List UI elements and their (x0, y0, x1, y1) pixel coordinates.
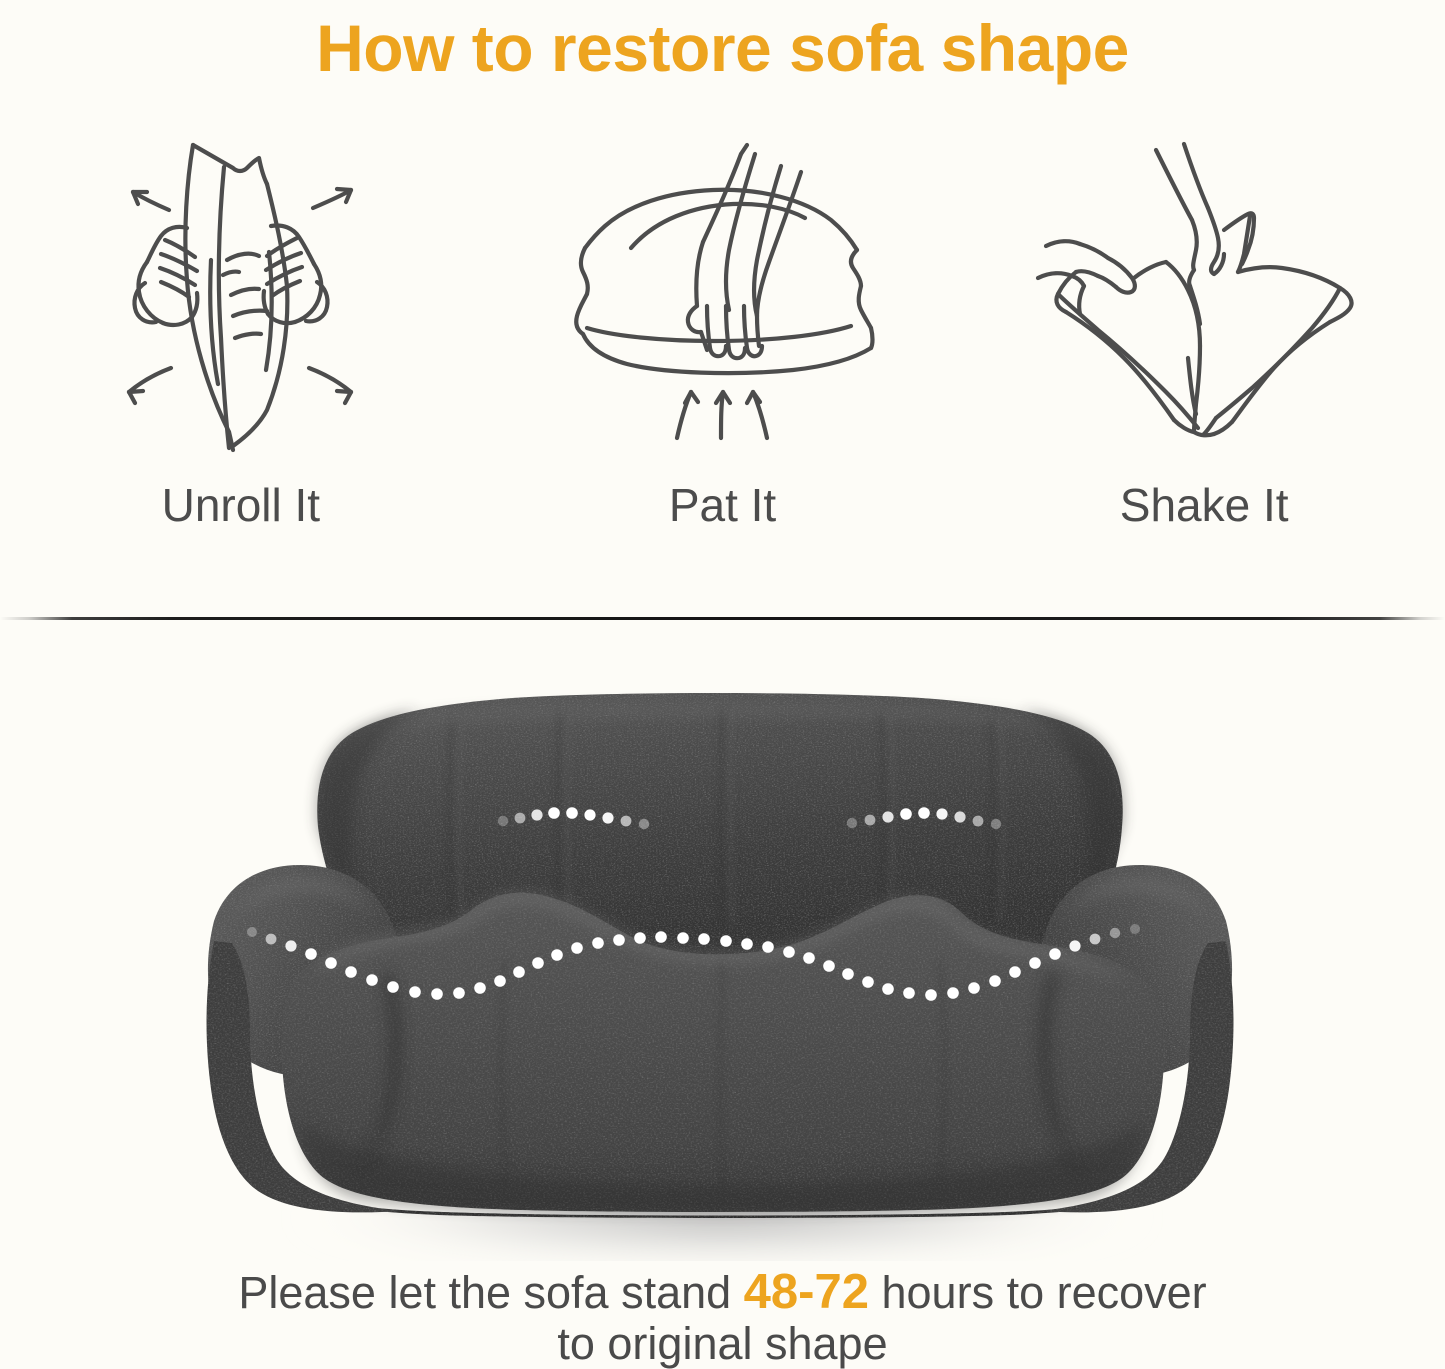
sofa-illustration (0, 621, 1445, 1261)
infographic-page: How to restore sofa shape (0, 0, 1445, 1369)
step-label-shake: Shake It (1120, 478, 1289, 532)
step-label-pat: Pat It (669, 478, 776, 532)
page-title: How to restore sofa shape (0, 0, 1445, 96)
steps-row: Unroll It (0, 120, 1445, 580)
caption-text-before: Please let the sofa stand (238, 1267, 743, 1318)
caption-line-2: to original shape (0, 1318, 1445, 1369)
hands-unrolling-cover-with-outward-arrows-icon (61, 120, 421, 470)
hands-shaking-cover-icon (1024, 120, 1384, 470)
step-label-unroll: Unroll It (162, 478, 320, 532)
section-divider (0, 617, 1445, 620)
step-unroll: Unroll It (0, 120, 482, 580)
product-photo (0, 621, 1445, 1261)
step-shake: Shake It (963, 120, 1445, 580)
step-pat: Pat It (482, 120, 964, 580)
caption-text-after: hours to recover (869, 1267, 1207, 1318)
caption-line-1: Please let the sofa stand 48-72 hours to… (0, 1267, 1445, 1318)
hands-patting-cushion-with-upward-arrows-icon (543, 120, 903, 470)
caption-highlight-duration: 48-72 (744, 1265, 869, 1319)
recovery-caption: Please let the sofa stand 48-72 hours to… (0, 1267, 1445, 1369)
